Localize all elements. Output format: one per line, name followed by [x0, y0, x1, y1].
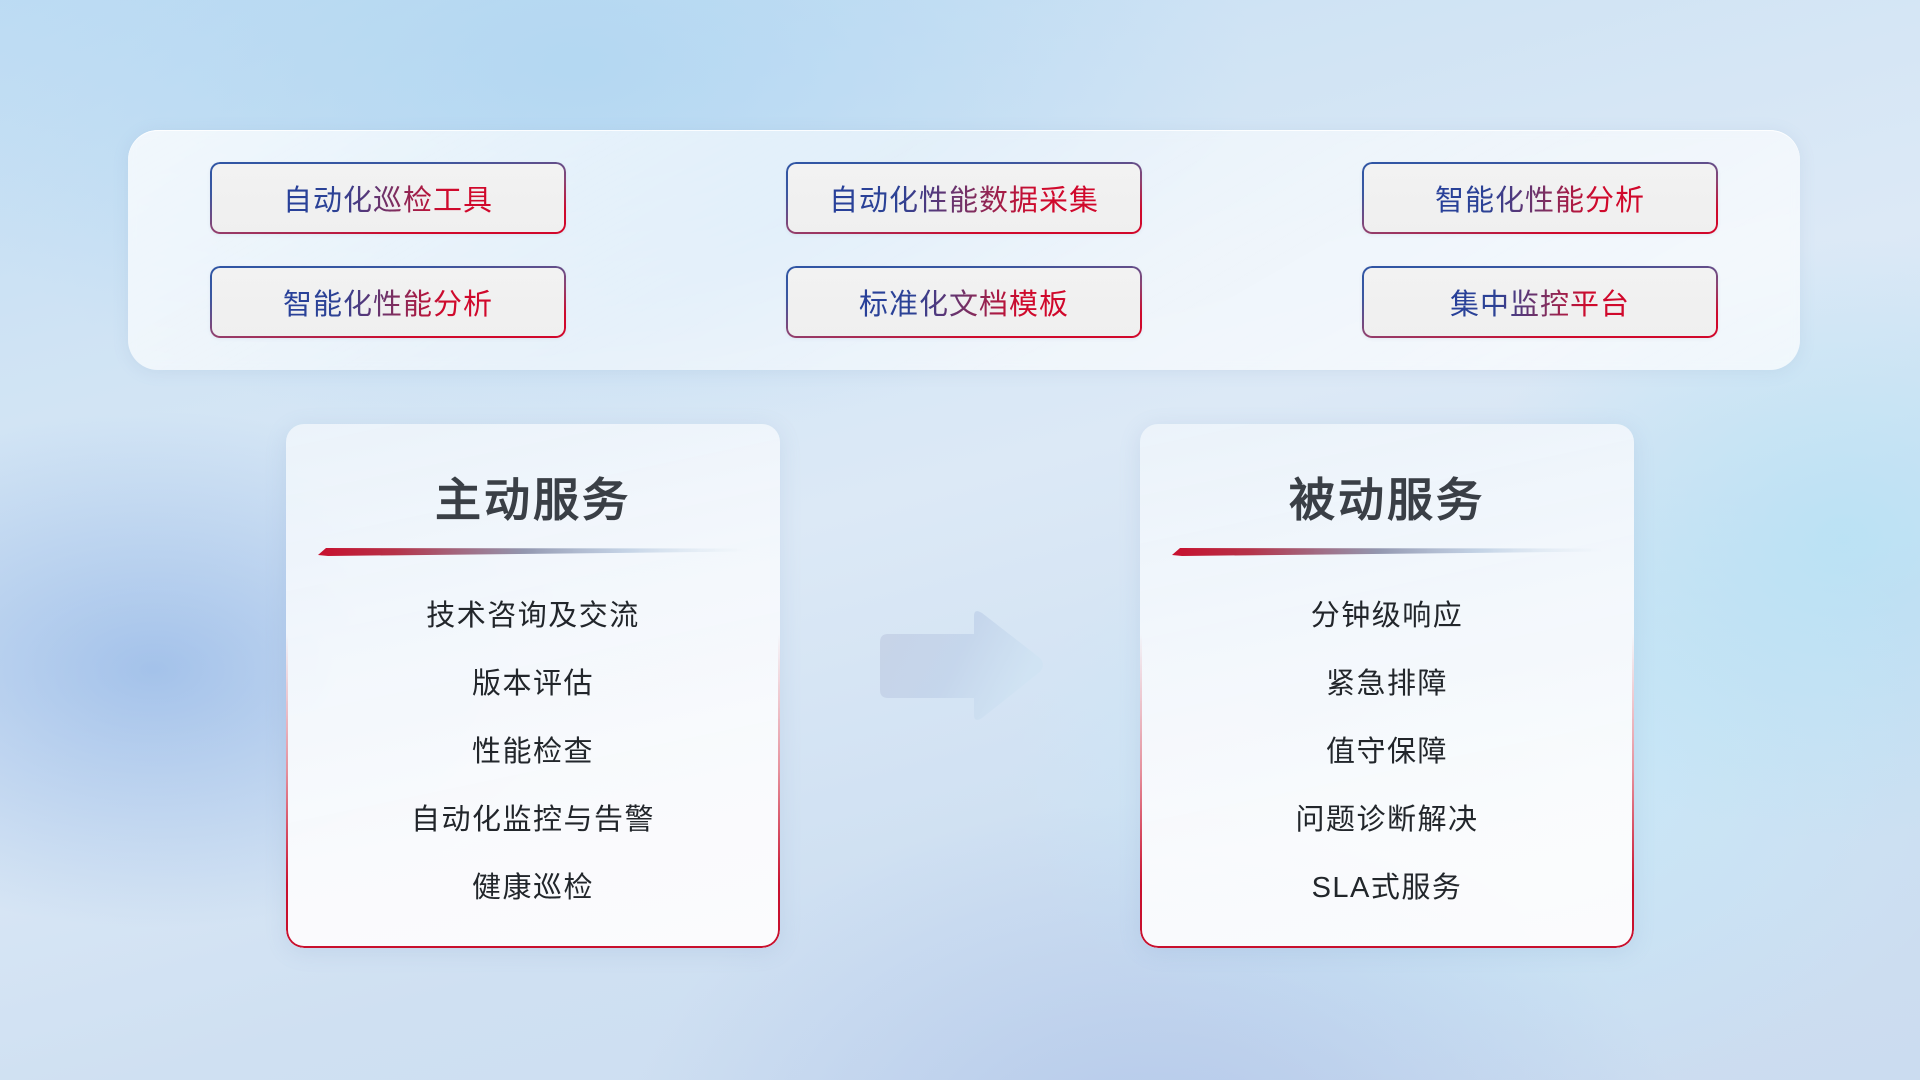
list-item: 技术咨询及交流 [426, 592, 640, 634]
list-item: 健康巡检 [472, 864, 594, 906]
list-item: 版本评估 [472, 660, 594, 702]
service-card-reactive: 被动服务 分钟级响应 紧急排障 值守保障 问题诊断解决 [1140, 424, 1634, 948]
list-item: 问题诊断解决 [1295, 796, 1478, 838]
capability-pill-4[interactable]: 智能化性能分析 [210, 266, 566, 338]
capabilities-pill-grid: 自动化巡检工具 自动化性能数据采集 智能化性能分析 智能化性能分析 标准化文档模… [168, 156, 1760, 344]
list-item: 性能检查 [472, 728, 594, 770]
arrow-right-icon [870, 608, 1046, 724]
list-item: 值守保障 [1326, 728, 1448, 770]
capabilities-panel: 自动化巡检工具 自动化性能数据采集 智能化性能分析 智能化性能分析 标准化文档模… [128, 130, 1800, 370]
capability-pill-label: 标准化文档模板 [859, 281, 1069, 323]
card-list: 分钟级响应 紧急排障 值守保障 问题诊断解决 SLA式服务 [1140, 592, 1634, 906]
list-item: 自动化监控与告警 [411, 796, 655, 838]
card-list: 技术咨询及交流 版本评估 性能检查 自动化监控与告警 健康巡检 [286, 592, 780, 906]
card-title: 被动服务 [1140, 464, 1634, 530]
capability-pill-1[interactable]: 自动化巡检工具 [210, 162, 566, 234]
capability-pill-label: 智能化性能分析 [283, 281, 493, 323]
service-card-proactive: 主动服务 技术咨询及交流 版本评估 性能检查 自动化监控与告警 [286, 424, 780, 948]
list-item: 分钟级响应 [1311, 592, 1464, 634]
capability-pill-5[interactable]: 标准化文档模板 [786, 266, 1142, 338]
capability-pill-label: 智能化性能分析 [1435, 177, 1645, 219]
capability-pill-2[interactable]: 自动化性能数据采集 [786, 162, 1142, 234]
capability-pill-3[interactable]: 智能化性能分析 [1362, 162, 1718, 234]
card-title: 主动服务 [286, 464, 780, 530]
capability-pill-label: 集中监控平台 [1450, 281, 1630, 323]
card-divider [1172, 546, 1602, 556]
list-item: 紧急排障 [1326, 660, 1448, 702]
list-item: SLA式服务 [1312, 864, 1463, 906]
capability-pill-6[interactable]: 集中监控平台 [1362, 266, 1718, 338]
capability-pill-label: 自动化巡检工具 [283, 177, 493, 219]
capability-pill-label: 自动化性能数据采集 [829, 177, 1099, 219]
card-divider [318, 546, 748, 556]
slide-canvas: 自动化巡检工具 自动化性能数据采集 智能化性能分析 智能化性能分析 标准化文档模… [0, 0, 1920, 1080]
